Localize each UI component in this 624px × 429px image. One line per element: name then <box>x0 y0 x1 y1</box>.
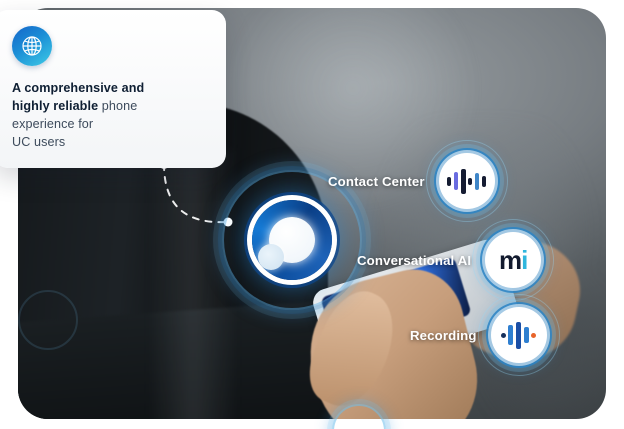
hub-core <box>252 200 332 280</box>
hero-graphic: Contact Center Conversational AI m i Rec… <box>0 0 624 429</box>
equalizer-waveform-icon[interactable] <box>439 153 495 209</box>
feature-node-conversational-ai[interactable]: Conversational AI m i <box>357 232 541 288</box>
feature-node-recording[interactable]: Recording <box>410 307 547 363</box>
mi-logo-m: m <box>499 245 521 276</box>
feature-node-contact-center[interactable]: Contact Center <box>328 153 495 209</box>
feature-label-recording: Recording <box>410 328 477 343</box>
info-card-regular-line2: phone <box>98 99 137 113</box>
waveform-bars <box>447 168 486 194</box>
info-card-regular-line4: UC users <box>12 135 65 149</box>
info-card-bold-line2: highly reliable <box>12 99 98 113</box>
mi-logo-i: i <box>521 245 527 276</box>
audio-waveform-record-icon[interactable] <box>491 307 547 363</box>
feature-label-contact-center: Contact Center <box>328 174 425 189</box>
feature-label-conversational-ai: Conversational AI <box>357 253 471 268</box>
hub-swirl-notch <box>258 244 284 270</box>
decorative-ring-left <box>18 290 78 350</box>
info-card: A comprehensive and highly reliable phon… <box>0 10 226 168</box>
mi-logo-icon[interactable]: m i <box>485 232 541 288</box>
globe-icon <box>12 26 52 66</box>
info-card-text: A comprehensive and highly reliable phon… <box>12 79 208 152</box>
info-card-regular-line3: experience for <box>12 117 93 131</box>
info-card-bold-line1: A comprehensive and <box>12 81 144 95</box>
waveform-bars <box>501 322 537 348</box>
